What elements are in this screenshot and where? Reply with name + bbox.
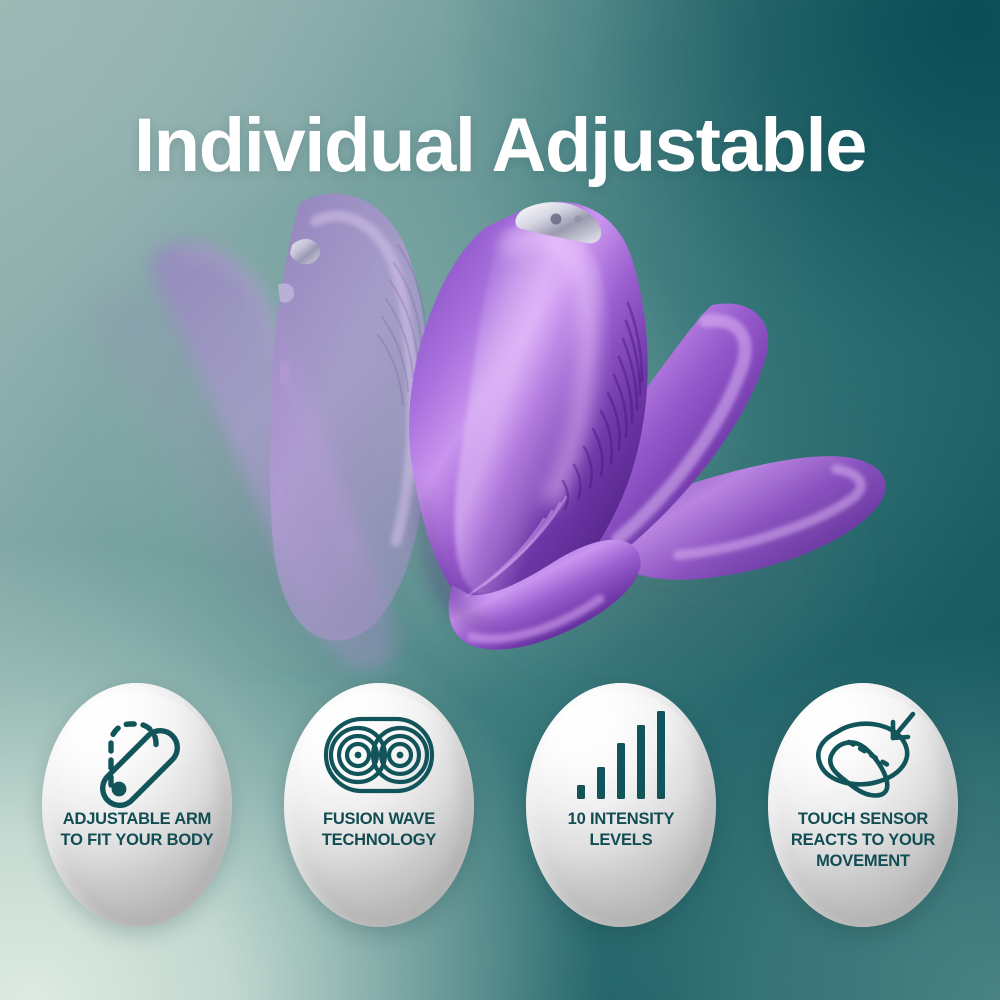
page-title: Individual Adjustable bbox=[0, 108, 1000, 184]
touch-sensor-icon bbox=[807, 707, 919, 803]
badge-label: 10 INTENSITY LEVELS bbox=[536, 809, 706, 851]
badge-touch-sensor[interactable]: TOUCH SENSOR REACTS TO YOUR MOVEMENT bbox=[768, 683, 958, 927]
product-image bbox=[0, 185, 1000, 685]
intensity-bars-icon bbox=[565, 707, 677, 803]
badge-label: ADJUSTABLE ARM TO FIT YOUR BODY bbox=[52, 809, 222, 851]
feature-badges: ADJUSTABLE ARM TO FIT YOUR BODY bbox=[42, 683, 958, 929]
badge-intensity-levels[interactable]: 10 INTENSITY LEVELS bbox=[526, 683, 716, 927]
fusion-wave-icon bbox=[323, 707, 435, 803]
badge-label: FUSION WAVE TECHNOLOGY bbox=[294, 809, 464, 851]
product-feature-poster: Individual Adjustable bbox=[0, 0, 1000, 1000]
badge-label: TOUCH SENSOR REACTS TO YOUR MOVEMENT bbox=[778, 809, 948, 871]
badge-fusion-wave[interactable]: FUSION WAVE TECHNOLOGY bbox=[284, 683, 474, 927]
badge-adjustable-arm[interactable]: ADJUSTABLE ARM TO FIT YOUR BODY bbox=[42, 683, 232, 927]
adjustable-arm-icon bbox=[81, 707, 193, 803]
